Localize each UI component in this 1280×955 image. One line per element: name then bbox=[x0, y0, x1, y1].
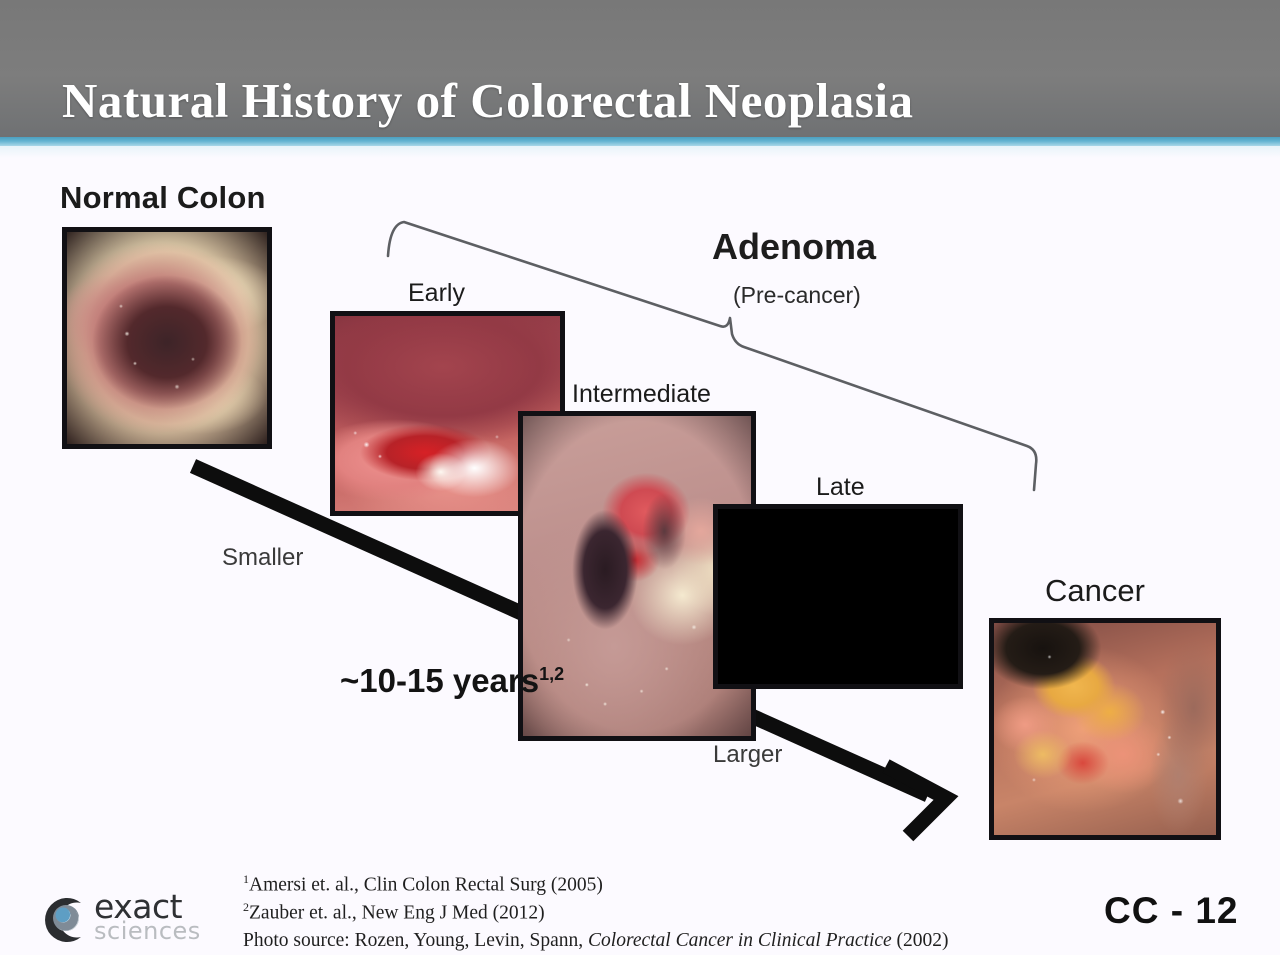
citation-block: 1Amersi et. al., Clin Colon Rectal Surg … bbox=[243, 871, 949, 955]
logo-secondary-text: sciences bbox=[94, 919, 201, 943]
stage-label-normal-colon: Normal Colon bbox=[60, 180, 266, 216]
slide-number: CC - 12 bbox=[1104, 890, 1238, 932]
photo-source-prefix: Photo source: Rozen, Young, Levin, Spann… bbox=[243, 930, 588, 951]
exact-sciences-swoosh-icon bbox=[36, 894, 88, 946]
duration-label: ~10-15 years1,2 bbox=[340, 662, 564, 700]
endoscopy-photo-late-adenoma bbox=[713, 504, 963, 689]
size-label-larger: Larger bbox=[713, 741, 782, 769]
stage-label-early: Early bbox=[408, 279, 465, 308]
citation-1-text: Amersi et. al., Clin Colon Rectal Surg (… bbox=[249, 875, 603, 896]
duration-superscript: 1,2 bbox=[539, 664, 564, 684]
endoscopy-photo-normal-colon bbox=[62, 227, 272, 449]
photo-source-title: Colorectal Cancer in Clinical Practice bbox=[588, 930, 892, 951]
citation-1: 1Amersi et. al., Clin Colon Rectal Surg … bbox=[243, 871, 949, 899]
duration-text: ~10-15 years bbox=[340, 662, 539, 699]
stage-label-cancer: Cancer bbox=[1045, 573, 1145, 609]
page-title: Natural History of Colorectal Neoplasia bbox=[62, 72, 913, 129]
stage-label-intermediate: Intermediate bbox=[572, 380, 711, 409]
citation-2-text: Zauber et. al., New Eng J Med (2012) bbox=[249, 903, 545, 924]
adenoma-heading: Adenoma bbox=[712, 226, 876, 268]
endoscopy-photo-cancer bbox=[989, 618, 1221, 840]
size-label-smaller: Smaller bbox=[222, 544, 303, 572]
slide-body: Normal Colon Early Intermediate Late Can… bbox=[0, 146, 1280, 954]
stage-label-late: Late bbox=[816, 473, 865, 502]
photo-source-suffix: (2002) bbox=[892, 930, 949, 951]
adenoma-subheading: (Pre-cancer) bbox=[733, 282, 861, 309]
exact-sciences-wordmark: exact sciences bbox=[94, 890, 201, 943]
exact-sciences-logo: exact sciences bbox=[36, 888, 226, 950]
citation-2: 2Zauber et. al., New Eng J Med (2012) bbox=[243, 899, 949, 927]
header-accent-bar bbox=[0, 137, 1280, 146]
photo-source: Photo source: Rozen, Young, Levin, Spann… bbox=[243, 927, 949, 955]
